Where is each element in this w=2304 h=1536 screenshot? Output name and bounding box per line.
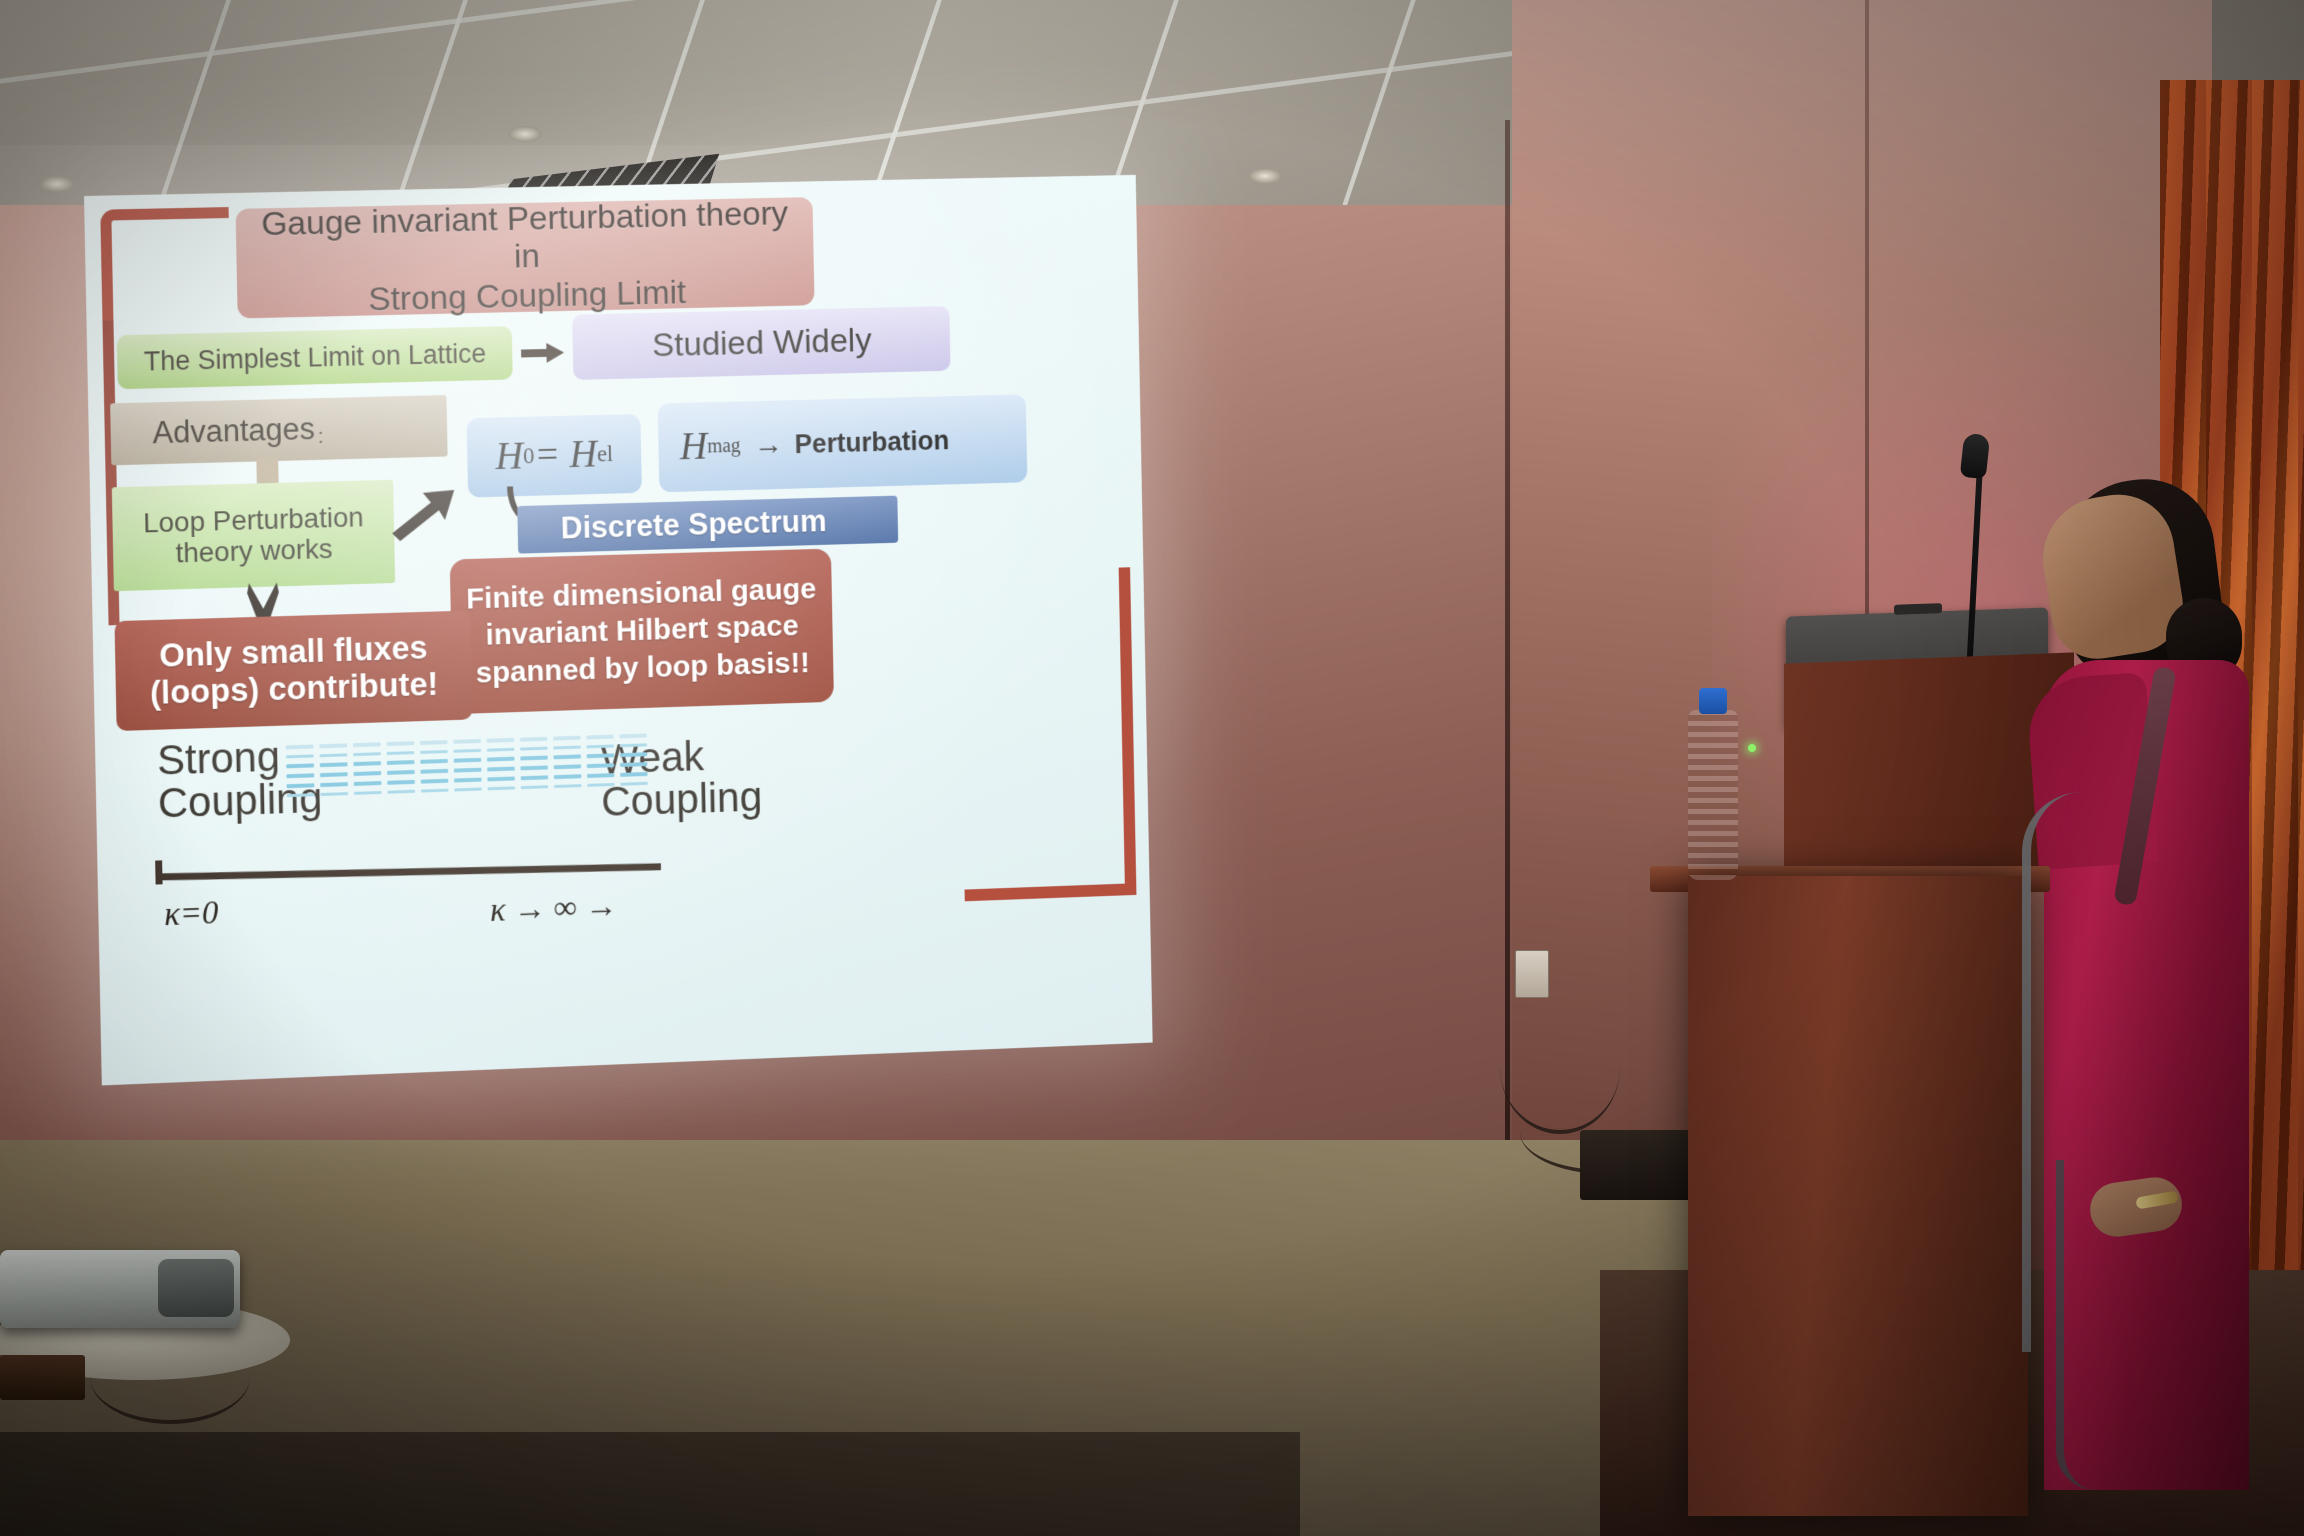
hilbert-line-1: Finite dimensional gauge <box>466 572 817 616</box>
hilbert-line-3: spanned by loop basis!! <box>476 646 811 690</box>
kappa-infinity-label: κ → ∞ → <box>490 889 618 930</box>
bottle-cap-icon <box>1699 688 1727 714</box>
spectrum-column <box>487 738 515 790</box>
spectrum-level-line <box>420 769 448 774</box>
spectrum-level-line <box>320 782 348 787</box>
spectrum-column <box>586 735 614 787</box>
spectrum-level-line <box>554 754 581 759</box>
lecture-room-photo: Gauge invariant Perturbation theory in S… <box>0 0 2304 1536</box>
spectrum-level-line <box>286 745 314 750</box>
spectrum-level-line <box>320 753 348 757</box>
hilbert-space-box: Finite dimensional gauge invariant Hilbe… <box>450 549 834 715</box>
spectrum-level-line <box>487 776 514 781</box>
downlight-icon <box>508 126 542 142</box>
spectrum-level-line <box>454 768 482 773</box>
slide-title: Gauge invariant Perturbation theory in S… <box>236 197 815 318</box>
spectrum-level-line <box>488 786 515 790</box>
coupling-axis <box>149 849 661 883</box>
spectrum-level-line <box>620 772 647 777</box>
gooseneck-mic-arm-lower <box>2056 1160 2124 1490</box>
hmag-symbol: H <box>679 425 707 469</box>
projector <box>0 1250 240 1328</box>
h0-subscript: 0 <box>523 443 535 469</box>
spectrum-level-line <box>454 758 482 763</box>
spectrum-level-line <box>354 781 382 786</box>
spectrum-level-line <box>319 743 347 748</box>
spectrum-level-line <box>521 785 548 789</box>
spectrum-level-line <box>286 773 314 778</box>
spectrum-level-line <box>487 738 514 743</box>
spectrum-level-line <box>520 747 547 751</box>
h0-symbol: H <box>495 435 523 479</box>
slide-surface: Gauge invariant Perturbation theory in S… <box>84 175 1153 1086</box>
hmag-arrow-icon: → <box>754 428 784 462</box>
laptop-hinge-icon <box>1894 603 1942 615</box>
spectrum-level-line <box>320 792 348 796</box>
kappa-arrow-icon: → <box>585 889 618 926</box>
advantages-box: Advantages: <box>110 395 448 465</box>
arrow-right-icon <box>519 340 566 367</box>
spectrum-level-line <box>619 734 646 739</box>
spectrum-level-line <box>387 770 415 775</box>
spectrum-level-line <box>520 756 547 761</box>
spectrum-level-line <box>353 761 381 766</box>
microphone-icon <box>1960 433 1990 479</box>
slide-corner-bracket-top-left <box>100 207 231 333</box>
projector-cable <box>90 1330 250 1424</box>
floor-foreground <box>0 1432 1300 1536</box>
podium <box>1688 876 2028 1516</box>
spectrum-level-line <box>454 788 482 792</box>
spectrum-level-line <box>553 746 580 750</box>
spectrum-level-line <box>586 735 613 740</box>
spectrum-level-line <box>320 772 348 777</box>
spectrum-level-line <box>554 764 581 769</box>
spectrum-level-line <box>387 760 415 765</box>
spectrum-level-line <box>520 765 547 770</box>
hilbert-line-2: invariant Hilbert space <box>485 610 799 653</box>
spectrum-level-line <box>320 762 348 767</box>
spectrum-column <box>386 741 415 794</box>
spectrum-column <box>353 742 382 795</box>
spectrum-level-line <box>354 791 382 795</box>
studied-widely-box: Studied Widely <box>572 306 950 380</box>
slide-corner-bracket-bottom-right <box>1119 567 1137 895</box>
wall-socket <box>1515 950 1549 998</box>
spectrum-level-line <box>620 743 647 747</box>
spectrum-level-line <box>354 771 382 776</box>
spectrum-level-line <box>286 763 314 768</box>
perturbation-label: Perturbation <box>794 425 949 459</box>
projector-accessory <box>0 1355 85 1400</box>
spectrum-column <box>319 743 348 796</box>
loop-perturbation-box: Loop Perturbation theory works <box>112 480 395 591</box>
spectrum-level-line <box>387 780 415 785</box>
hmag-formula-box: Hmag → Perturbation <box>658 394 1028 492</box>
fluxes-line-2: (loops) contribute! <box>150 666 439 712</box>
spectrum-level-line <box>553 736 580 741</box>
spectrum-level-line <box>487 767 514 772</box>
spectrum-level-line <box>520 737 547 742</box>
spectrum-level-line <box>420 759 448 764</box>
spectrum-level-line <box>487 757 514 762</box>
spectrum-level-line <box>554 784 581 788</box>
spectrum-level-line <box>587 773 614 778</box>
slide-title-line-2: Strong Coupling Limit <box>368 274 687 319</box>
spectrum-level-line <box>286 754 314 758</box>
axis-line <box>159 863 661 880</box>
spectrum-column <box>553 736 581 788</box>
spectrum-level-line <box>587 763 614 768</box>
arrow-up-right-icon <box>387 486 457 543</box>
spectrum-level-line <box>353 742 381 747</box>
spectrum-level-line <box>620 762 647 767</box>
spectrum-level-line <box>387 751 415 755</box>
spectrum-level-line <box>521 775 548 780</box>
projector-lens-icon <box>158 1259 234 1317</box>
spectrum-level-line <box>587 744 614 748</box>
spectrum-column <box>286 745 315 798</box>
wall-seam <box>1505 120 1510 1300</box>
small-fluxes-box: Only small fluxes (loops) contribute! <box>114 610 472 731</box>
spectrum-level-line <box>453 749 481 753</box>
kappa-infinity-text: κ → ∞ <box>490 890 578 929</box>
loop-line-2: theory works <box>175 533 333 569</box>
spectrum-column <box>453 739 481 791</box>
spectrum-column <box>520 737 548 789</box>
spectrum-level-line <box>487 748 514 752</box>
advantages-label: Advantages <box>152 412 315 451</box>
spectrum-level-line <box>287 783 315 788</box>
hmag-subscript: mag <box>707 435 741 458</box>
spectrum-level-line <box>454 778 482 783</box>
slide-title-line-1: Gauge invariant Perturbation theory in <box>249 194 800 281</box>
kappa-zero-label: κ=0 <box>164 895 219 934</box>
floor-loudspeaker <box>1580 1130 1695 1200</box>
projection-screen: Gauge invariant Perturbation theory in S… <box>84 175 1153 1096</box>
spectrum-level-line <box>453 739 481 744</box>
spectrum-column <box>420 740 449 792</box>
spectrum-level-line <box>353 752 381 756</box>
spectrum-level-line <box>420 740 448 745</box>
discrete-spectrum-box: Discrete Spectrum <box>517 496 898 554</box>
advantages-colon: : <box>318 426 324 460</box>
energy-spectrum-graphic <box>286 734 648 798</box>
spectrum-level-line <box>386 741 414 746</box>
spectrum-column <box>619 734 647 786</box>
spectrum-level-line <box>387 790 415 794</box>
simplest-limit-box: The Simplest Limit on Lattice <box>117 326 513 389</box>
h0-el-subscript: el <box>597 441 614 467</box>
h0-equation: = H <box>534 433 598 478</box>
spectrum-level-line <box>421 779 449 784</box>
spectrum-level-line <box>587 753 614 758</box>
water-bottle <box>1688 710 1738 880</box>
spectrum-level-line <box>420 750 448 754</box>
spectrum-level-line <box>421 789 449 793</box>
spectrum-level-line <box>554 774 581 779</box>
spectrum-level-line <box>620 752 647 757</box>
status-led-icon <box>1748 744 1756 752</box>
